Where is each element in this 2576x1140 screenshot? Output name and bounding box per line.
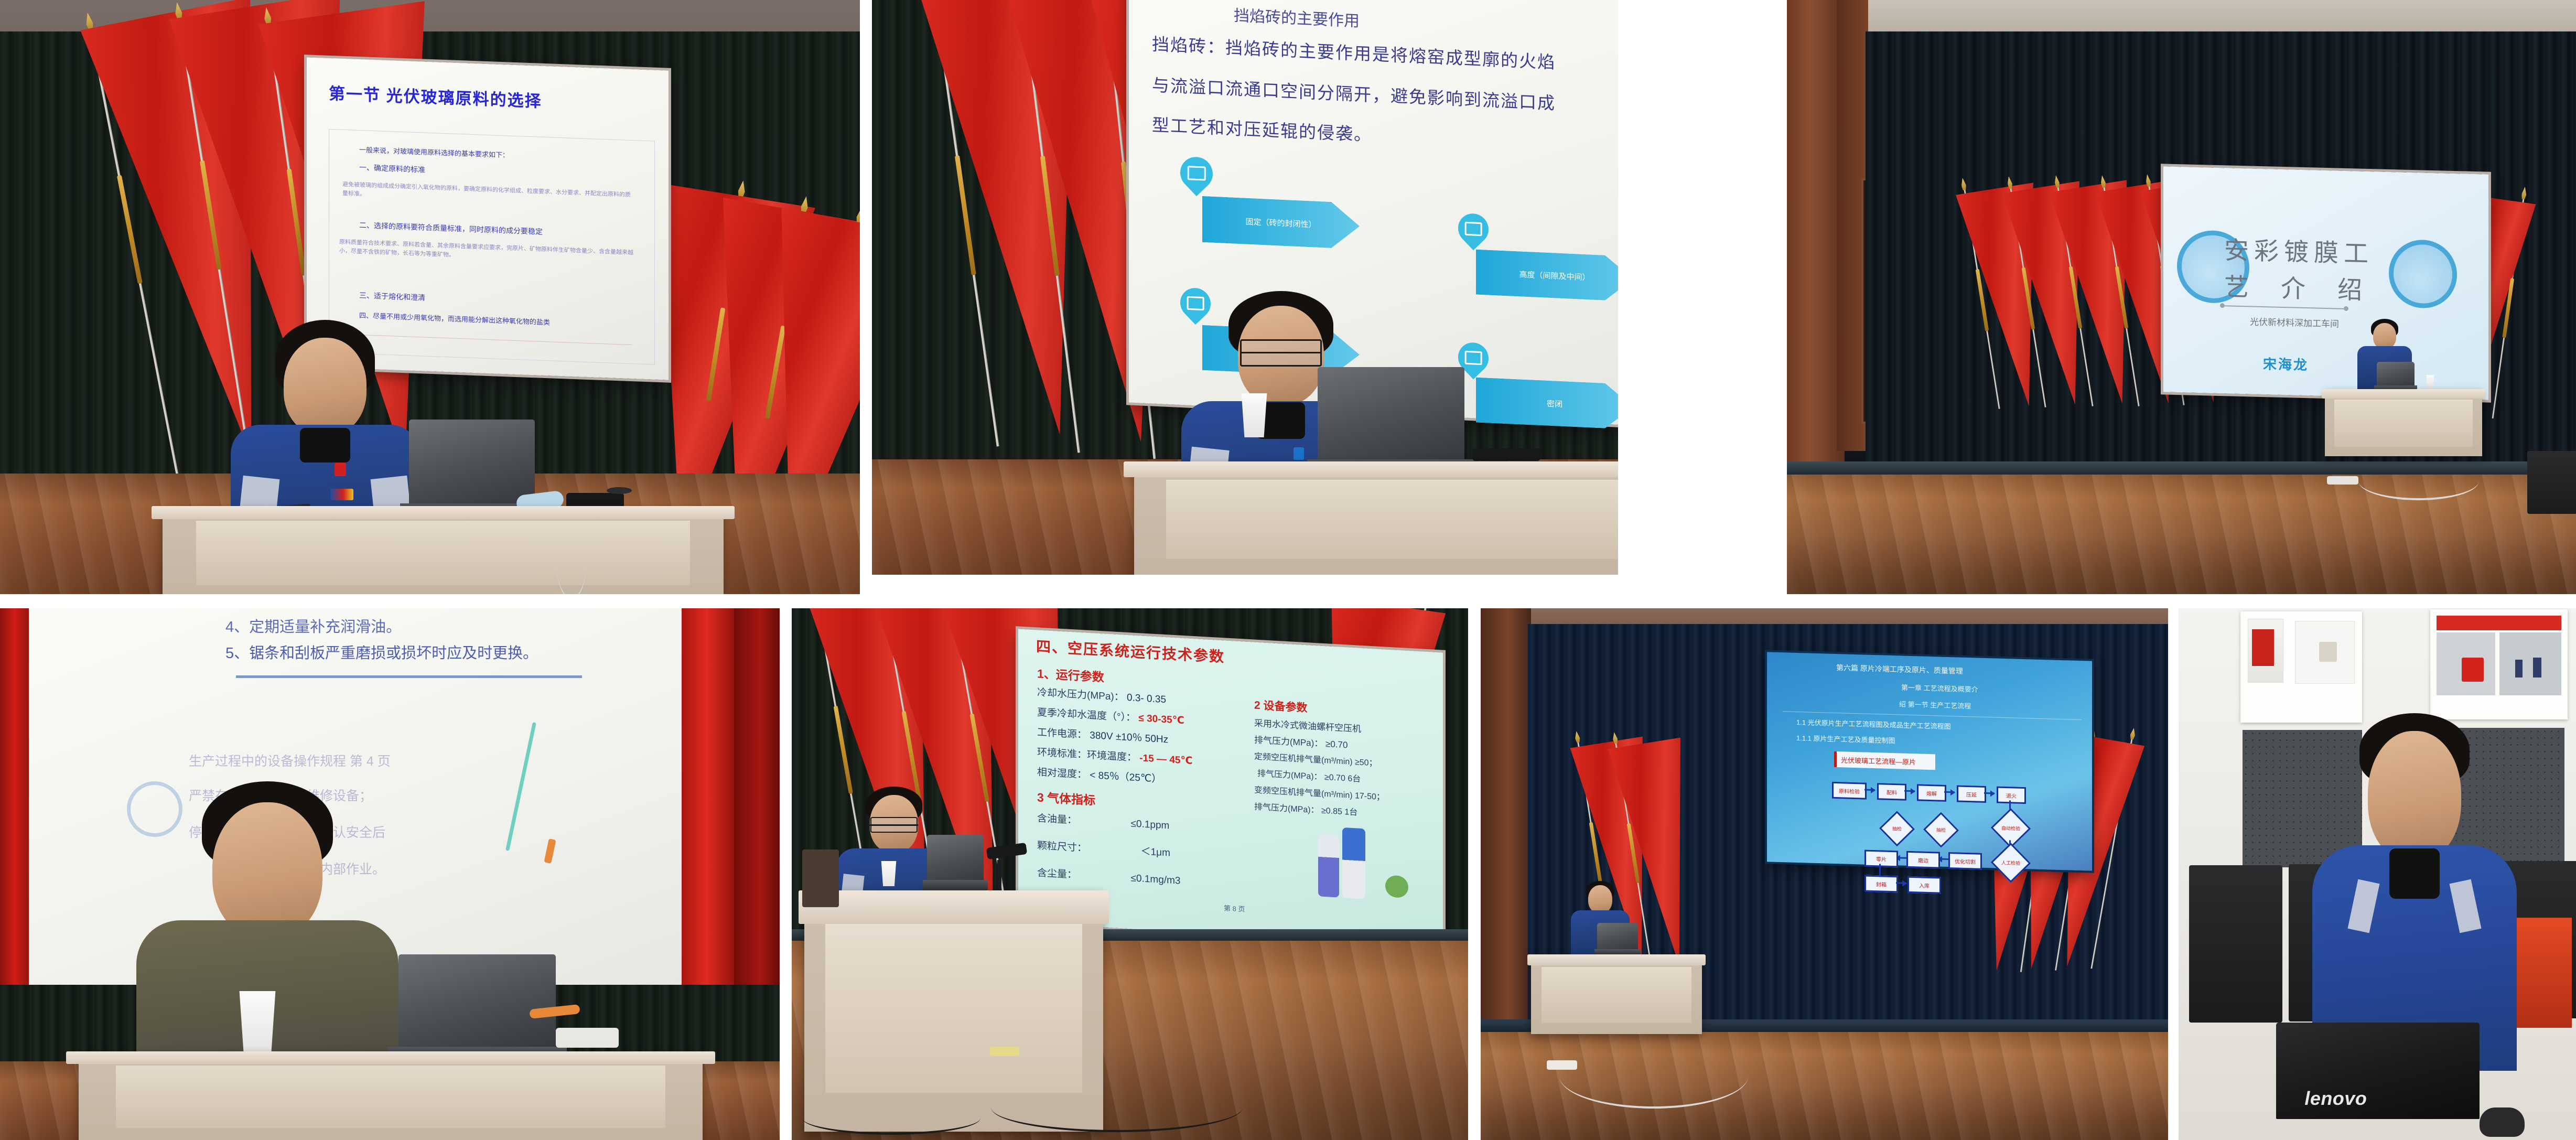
panel-2-flame-blocking-brick-lecture: 挡焰砖的主要作用 挡焰砖：挡焰砖的主要作用是将熔窑成型廓的火焰 与流溢口流通口空… <box>872 0 1618 575</box>
param-value: ≥0.70 6台 <box>1324 773 1361 784</box>
lenovo-logo: lenovo <box>2304 1088 2367 1110</box>
power-cable <box>991 1083 1243 1132</box>
chevron-block: 密闭 <box>1476 378 1618 430</box>
param-label: 冷却水压力(MPa)： <box>1037 687 1124 703</box>
slide-page-number: 第 8 页 <box>1224 902 1245 913</box>
panel-5-air-compressor-parameters-lecture: 四、空压系统运行技术参数 1、运行参数 冷却水压力(MPa)： 0.3- 0.3… <box>792 608 1468 1140</box>
flow-node: 压延 <box>1957 785 1986 803</box>
panel-7-office-webcam-portrait: lenovo <box>2179 608 2576 1140</box>
pin-icon <box>1173 150 1220 197</box>
framed-photo <box>2240 611 2362 723</box>
param-value: ≥0.70 <box>1325 739 1348 750</box>
flow-node-label: 熔解 <box>1926 789 1937 797</box>
flow-decision: 自动检验 <box>1991 808 2031 848</box>
framed-photo <box>2430 609 2568 719</box>
microphone-stand <box>997 860 1001 895</box>
clipart-figure <box>1342 827 1365 899</box>
param-label: 含油量： <box>1037 813 1077 826</box>
param-row: 颗粒尺寸： ＜1μm <box>1037 837 1170 859</box>
flow-node: 熔解 <box>1917 784 1946 802</box>
param-value: 380V ±10％ 50Hz <box>1090 730 1168 745</box>
param-label: 定频空压机排气量(m³/min) <box>1254 752 1353 767</box>
section-heading: 1、运行参数 <box>1037 663 1104 685</box>
param-value: ＜1μm <box>1141 846 1170 858</box>
flow-decision-label: 抽检 <box>1936 826 1946 834</box>
param-value: 0.3- 0.35 <box>1127 692 1166 705</box>
badge-icon <box>1294 447 1304 460</box>
panel-3-coating-process-title-slide: 安彩镀膜工 艺 介 绍 光伏新材料深加工车间 宋海龙 <box>1787 0 2576 594</box>
flow-node-label: 原料检验 <box>1839 787 1860 795</box>
power-strip <box>990 1047 1019 1056</box>
param-label: 排气压力(MPa)： <box>1257 769 1322 782</box>
photo-collage: 第一节 光伏玻璃原料的选择 一般来说，对玻璃使用原料选择的基本要求如下： 一、确… <box>0 0 2576 1140</box>
flow-node: 退火 <box>1997 787 2026 804</box>
slide-subtitle: 光伏新材料深加工车间 <box>2250 314 2339 329</box>
power-strip <box>2327 476 2358 485</box>
flow-node: 封箱 <box>1864 875 1898 893</box>
param-label: 相对湿度： <box>1037 767 1087 780</box>
chart-title-box: 光伏玻璃工艺流程—原片 <box>1834 751 1935 770</box>
param-row: 相对湿度： < 85％（25℃） <box>1037 764 1161 785</box>
flow-node-label: 配料 <box>1887 788 1897 796</box>
param-row: 排气压力(MPa)： ≥0.70 6台 <box>1257 766 1361 784</box>
flow-decision-label: 人工检验 <box>2001 859 2020 866</box>
slide-header-line: 绍 第一节 生产工艺流程 <box>1899 698 1971 711</box>
chevron-label: 高度（间隙及中间） <box>1519 268 1590 283</box>
param-label: 变频空压机排气量(m³/min) <box>1254 786 1353 800</box>
pointer-tip <box>544 838 556 864</box>
flow-arrow <box>1984 792 1995 794</box>
flow-node: 零片 <box>1864 850 1898 868</box>
power-cable <box>2358 461 2479 500</box>
lenovo-laptop: lenovo <box>2276 1023 2480 1140</box>
power-cable <box>1559 1044 1748 1109</box>
flow-arrow <box>1896 882 1906 884</box>
param-row: 定频空压机排气量(m³/min) ≥50； <box>1254 749 1377 769</box>
param-label: 含尘量： <box>1037 867 1077 880</box>
chevron-block: 固定（砖的封闭性） <box>1202 196 1360 250</box>
badge-icon <box>335 463 346 476</box>
param-label: 工作电源： <box>1037 727 1087 740</box>
param-label: 环境标准：环境温度： <box>1037 747 1137 763</box>
flow-decision-label: 抽检 <box>1892 825 1902 833</box>
param-row: 冷却水压力(MPa)： 0.3- 0.35 <box>1037 684 1166 706</box>
slide-line: 5、锯条和刮板严重磨损或损坏时应及时更换。 <box>225 641 538 663</box>
slide-header-line: 第六篇 原片冷端工序及原片、质量管理 <box>1836 662 1963 676</box>
flow-node-label: 压延 <box>1966 790 1977 798</box>
slide-line: 4、定期适量补充润滑油。 <box>225 615 401 637</box>
flow-node: 磨边 <box>1906 851 1940 869</box>
wood-column <box>1787 0 1845 472</box>
chevron-label: 密闭 <box>1547 397 1562 409</box>
slide-title: 第一节 光伏玻璃原料的选择 <box>329 80 542 112</box>
pointer-line <box>505 722 536 851</box>
chevron-block: 高度（间隙及中间） <box>1476 250 1618 302</box>
flow-node: 配料 <box>1877 783 1906 801</box>
param-row: 含油量： ≤0.1ppm <box>1037 810 1169 832</box>
logo-emblem-icon <box>2389 239 2457 309</box>
panel-4-lubrication-maintenance-lecture: 4、定期适量补充润滑油。 5、锯条和刮板严重磨损或损坏时应及时更换。 生产过程中… <box>0 608 780 1140</box>
flow-decision: 抽检 <box>1879 811 1915 846</box>
microphone <box>1472 448 1540 461</box>
glasses-icon <box>870 817 918 833</box>
slide-line: 型工艺和对压延辊的侵袭。 <box>1152 111 1372 146</box>
param-row: 排气压力(MPa)： ≥0.70 <box>1254 733 1348 751</box>
slide-header-line: 第一章 工艺流程及概要介 <box>1901 682 1978 694</box>
param-label: 颗粒尺寸： <box>1037 840 1087 854</box>
section-heading: 3 气体指标 <box>1037 787 1095 808</box>
flow-node-label: 入库 <box>1919 881 1930 889</box>
flow-arrow <box>1864 789 1875 791</box>
flow-node-label: 退火 <box>2006 791 2017 800</box>
param-value: ≤ 30-35℃ <box>1138 713 1184 726</box>
slide-outline-line: 1.1.1 原片生产工艺及质量控制图 <box>1796 733 1895 745</box>
projection-screen: 第六篇 原片冷端工序及原片、质量管理 第一章 工艺流程及概要介 绍 第一节 生产… <box>1767 652 2092 870</box>
flow-decision-label: 自动检验 <box>2001 824 2020 832</box>
param-row: 工作电源： 380V ±10％ 50Hz <box>1037 724 1168 746</box>
section-heading: 2 设备参数 <box>1254 697 1308 716</box>
power-strip <box>1547 1060 1577 1070</box>
presenter-desk <box>1531 954 1702 1034</box>
red-curtain <box>0 608 29 1049</box>
param-label: 排气压力(MPa)： <box>1254 803 1319 815</box>
wood-column <box>1481 608 1531 1038</box>
param-value: < 85％（25℃） <box>1090 770 1161 785</box>
flow-node: 原料检验 <box>1832 782 1867 800</box>
clipart-bush <box>1385 875 1408 898</box>
flow-arrow <box>1904 790 1915 792</box>
flow-node: 入库 <box>1907 876 1941 894</box>
glasses-icon <box>1240 339 1322 367</box>
badge-icon <box>330 489 353 500</box>
param-value: 17-50； <box>1355 791 1385 802</box>
param-value: ≤0.1mg/m3 <box>1131 873 1181 886</box>
presenter-desk <box>79 1051 703 1140</box>
panel-1-raw-material-selection-lecture: 第一节 光伏玻璃原料的选择 一般来说，对玻璃使用原料选择的基本要求如下： 一、确… <box>0 0 860 594</box>
projection-screen: 安彩镀膜工 艺 介 绍 光伏新材料深加工车间 宋海龙 <box>2163 166 2488 400</box>
pin-icon <box>1452 207 1495 250</box>
presenter-desk <box>163 506 724 594</box>
flow-node-label: 优化切割 <box>1955 857 1976 865</box>
slide-line: 与流溢口流通口空间分隔开，避免影响到流溢口成 <box>1152 71 1556 115</box>
flow-node: 优化切割 <box>1948 852 1982 870</box>
mouse <box>2480 1107 2525 1137</box>
param-value: ≥50； <box>1355 758 1377 768</box>
presenter-desk <box>2325 389 2482 456</box>
laptop <box>2377 362 2415 391</box>
chart-title: 光伏玻璃工艺流程—原片 <box>1837 755 1916 767</box>
param-value: ≥0.85 1台 <box>1321 806 1357 818</box>
flow-arrow <box>1944 791 1955 793</box>
power-cable <box>802 1101 980 1135</box>
param-row: 排气压力(MPa)： ≥0.85 1台 <box>1254 800 1357 818</box>
param-row: 环境标准：环境温度： -15 — 45℃ <box>1037 744 1192 767</box>
flow-arrow <box>1879 864 1881 875</box>
chevron-label: 固定（砖的封闭性） <box>1245 216 1316 230</box>
param-value: -15 — 45℃ <box>1139 752 1192 767</box>
laptop <box>1597 923 1638 955</box>
slide-line: 生产过程中的设备操作规程 第 4 页 <box>189 751 391 770</box>
flow-node-label: 零片 <box>1876 855 1887 863</box>
param-row: 变频空压机排气量(m³/min) 17-50； <box>1254 783 1385 803</box>
presenter-desk <box>1134 461 1618 575</box>
slide-title: 四、空压系统运行技术参数 <box>1036 635 1225 666</box>
chair <box>2189 865 2282 1023</box>
chair <box>2527 451 2576 514</box>
param-row: 含尘量： ≤0.1mg/m3 <box>1037 865 1181 887</box>
slide-heading: 挡焰砖的主要作用 <box>1234 3 1360 31</box>
slide-line: 挡焰砖：挡焰砖的主要作用是将熔窑成型廓的火焰 <box>1152 30 1556 74</box>
param-label: 夏季冷却水温度（°）： <box>1037 707 1136 724</box>
chair <box>802 849 839 907</box>
param-label: 排气压力(MPa)： <box>1254 735 1323 749</box>
flow-decision: 抽检 <box>1923 812 1959 848</box>
clipart-figure <box>1318 834 1339 897</box>
slide-presenter: 宋海龙 <box>2263 353 2309 374</box>
param-value: ≤0.1ppm <box>1131 818 1170 831</box>
slide-title-line-1: 安彩镀膜工 <box>2224 230 2374 270</box>
panel-6-process-flowchart-lecture: 第六篇 原片冷端工序及原片、质量管理 第一章 工艺流程及概要介 绍 第一节 生产… <box>1481 608 2168 1140</box>
cable <box>556 514 587 594</box>
flow-node-label: 磨边 <box>1918 856 1928 864</box>
slide-outline-line: 1.1 光伏原片生产工艺流程图及成品生产工艺流程图 <box>1796 717 1951 731</box>
flow-node-label: 封箱 <box>1876 880 1887 888</box>
slide-title-line-2: 艺 介 绍 <box>2224 266 2375 306</box>
smartphone <box>556 1028 619 1048</box>
param-row: 采用水冷式微油螺杆空压机 <box>1254 716 1361 735</box>
laptop <box>927 835 984 891</box>
param-row: 夏季冷却水温度（°）： ≤ 30-35℃ <box>1037 704 1184 727</box>
